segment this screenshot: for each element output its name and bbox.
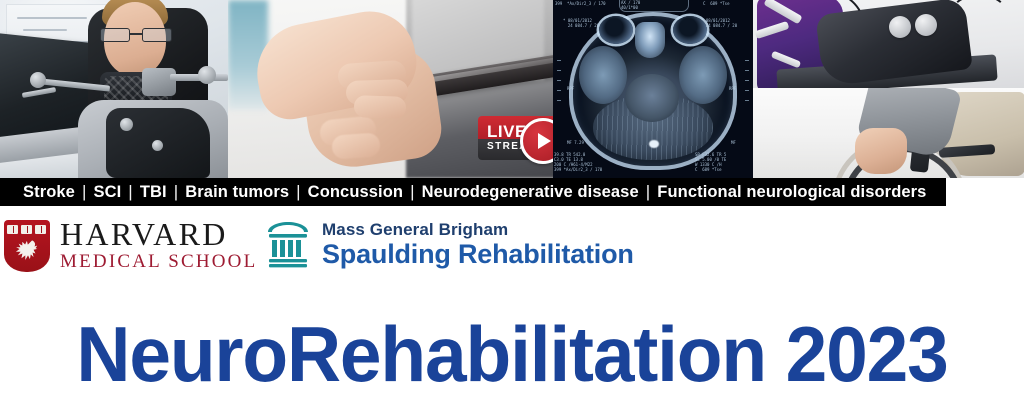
mri-annotation-top-center: AX / 170 40/1*00 bbox=[621, 0, 640, 10]
mri-annotation-top-left: 399 *Ax/Dir2_3 / 170 bbox=[555, 1, 606, 6]
condition-item-sci: SCI bbox=[92, 183, 122, 201]
photo-therapy-hands-parallel-bar: LIVE STREAM bbox=[228, 0, 553, 178]
condition-item-functional-neurological-disorders: Functional neurological disorders bbox=[656, 183, 927, 201]
photo-wheelchair-hand-on-rim bbox=[753, 88, 1024, 178]
condition-separator: | bbox=[640, 183, 657, 201]
logo-row: HARVARD MEDICAL SCHOOL Mass General Brig… bbox=[0, 206, 1024, 310]
condition-separator: | bbox=[76, 183, 93, 201]
spaulding-rehabilitation-name: Spaulding Rehabilitation bbox=[322, 239, 634, 270]
photo-brain-mri-axial: 399 *Ax/Dir2_3 / 170 AX / 170 40/1*00 C … bbox=[553, 0, 753, 178]
condition-separator: | bbox=[290, 183, 307, 201]
classical-building-icon bbox=[266, 221, 310, 269]
harvard-shield-icon bbox=[4, 220, 50, 272]
orbit-left bbox=[599, 16, 633, 44]
brainstem bbox=[625, 74, 679, 122]
mri-annotation-left-bottom: 39.8 TR 542.0 C3.0 TE 13.8 200 C /H61-4/… bbox=[554, 152, 602, 172]
mass-general-brigham-spaulding-logo: Mass General Brigham Spaulding Rehabilit… bbox=[266, 220, 634, 270]
condition-separator: | bbox=[168, 183, 185, 201]
headrest-mount bbox=[142, 68, 176, 96]
live-stream-badge[interactable]: LIVE STREAM bbox=[478, 116, 553, 160]
condition-item-concussion: Concussion bbox=[307, 183, 404, 201]
condition-banner: Stroke | SCI | TBI | Brain tumors | Conc… bbox=[0, 178, 946, 206]
harvard-wordmark: HARVARD MEDICAL SCHOOL bbox=[60, 218, 257, 273]
harvard-medical-school-logo: HARVARD MEDICAL SCHOOL bbox=[4, 218, 257, 273]
condition-item-neurodegenerative-disease: Neurodegenerative disease bbox=[421, 183, 640, 201]
lion-rampant-icon bbox=[12, 237, 42, 267]
cable-loop bbox=[949, 0, 1009, 38]
mri-annotation-left-mid: RPF bbox=[567, 86, 574, 91]
spaulding-wordmark: Mass General Brigham Spaulding Rehabilit… bbox=[322, 220, 634, 270]
condition-item-tbi: TBI bbox=[139, 183, 168, 201]
photo-wheelchair-user-at-laptop bbox=[0, 0, 228, 178]
mri-annotation-right-bottom: SP F32.6 TR 5 SL 5.00 /0 TE W 1330 C /H … bbox=[695, 152, 726, 172]
condition-separator: | bbox=[404, 183, 421, 201]
page-title: NeuroRehabilitation 2023 bbox=[20, 312, 1003, 396]
mri-annotation-right-mid: RPF bbox=[729, 86, 736, 91]
condition-item-stroke: Stroke bbox=[22, 183, 76, 201]
mri-annotation-left-upper: * 08/01/2012 24 084.7 / 20 bbox=[563, 18, 599, 28]
mri-annotation-left-lower: MF 7.29 bbox=[567, 140, 584, 145]
hand-on-rim bbox=[855, 128, 907, 174]
harvard-name: HARVARD bbox=[60, 218, 257, 250]
condition-separator: | bbox=[122, 183, 139, 201]
sinus-region bbox=[635, 22, 665, 58]
eyeglasses-icon bbox=[100, 28, 174, 40]
photo-robotic-exoskeleton-leg bbox=[753, 0, 1024, 88]
temporal-lobe-right bbox=[679, 46, 727, 104]
mri-annotation-right-upper: * 08/01/2012 24 084.7 / 20 bbox=[701, 18, 737, 28]
actuator-pad-2 bbox=[915, 14, 937, 36]
mass-general-brigham-name: Mass General Brigham bbox=[322, 220, 634, 239]
mri-annotation-top-right: C 689 *Tse bbox=[703, 1, 730, 6]
hero-photo-strip: LIVE STREAM 399 *Ax/Dir2_3 / 170 AX / 17… bbox=[0, 0, 1024, 178]
right-photo-column bbox=[753, 0, 1024, 178]
mri-annotation-right-lower: MF bbox=[731, 140, 736, 145]
temporal-lobe-left bbox=[579, 46, 627, 104]
condition-list: Stroke | SCI | TBI | Brain tumors | Conc… bbox=[22, 183, 927, 201]
actuator-pad-1 bbox=[889, 16, 911, 38]
bright-lesion-marker bbox=[649, 140, 659, 148]
harvard-school-name: MEDICAL SCHOOL bbox=[60, 251, 257, 273]
condition-item-brain-tumors: Brain tumors bbox=[184, 183, 290, 201]
